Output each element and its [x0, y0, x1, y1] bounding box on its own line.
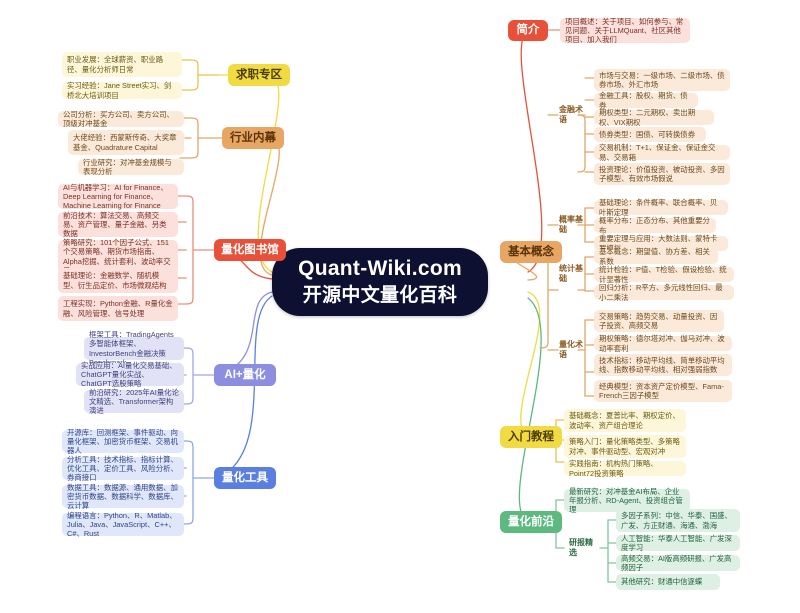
leaf-text: 技术指标：移动平均线、简单移动平均线、指数移动平均线、相对强弱指数	[599, 356, 727, 375]
leaf-text: 实习经验：Jane Street实习、剑桥北大培训项目	[67, 81, 177, 100]
leaf-text: AI与机器学习：AI for Finance、Deep Learning for…	[63, 183, 173, 211]
leaf-text: 基础理论：金融数学、随机模型、衍生品定价、市场微观结构	[63, 271, 173, 290]
leaf-text: 市场与交易：一级市场、二级市场、债券市场、外汇市场	[599, 71, 725, 90]
branch-basics[interactable]: 基本概念	[500, 241, 562, 263]
mindmap-canvas: Quant-Wiki.com 开源中文量化百科 求职专区 职业发展：全球薪资、职…	[0, 0, 800, 613]
leaf-text: 实践指南：机构热门策略、Point72投资策略	[569, 459, 681, 478]
leaf-bond-types[interactable]: 债券类型：国债、可转换债券	[594, 127, 706, 142]
leaf-text: 经典模型：资本资产定价模型、Fama-French三因子模型	[599, 382, 727, 401]
sub-finance-terms[interactable]: 金融术语	[556, 107, 586, 123]
leaf-ai-frameworks[interactable]: 框架工具：TradingAgents多智能体框架、InvestorBench金融…	[84, 337, 184, 360]
branch-industry[interactable]: 行业内幕	[222, 127, 284, 149]
sub-label: 量化术语	[559, 340, 583, 360]
leaf-financial-instruments[interactable]: 金融工具：股权、期货、债券	[594, 93, 698, 108]
leaf-artificial-intelligence[interactable]: 人工智能：华泰人工智能、广发深度学习	[616, 535, 740, 551]
leaf-text: 统计检验：P值、T检验、假设检验、统计显著性	[599, 265, 729, 284]
leaf-library-theory[interactable]: 基础理论：金融数学、随机模型、衍生品定价、市场微观结构	[58, 268, 178, 293]
leaf-tools-languages[interactable]: 编程语言：Python、R、Matlab、Julia、Java、JavaScri…	[62, 513, 184, 536]
leaf-library-frontier[interactable]: 前沿技术：算法交易、高频交易、资产管理、量子金融、另类数据	[58, 212, 178, 237]
leaf-tutorial-strategy[interactable]: 策略入门：量化策略类型、多策略对冲、事件驱动型、宏观对冲	[564, 435, 686, 458]
leaf-tools-data[interactable]: 数据工具：数据源、通用数据、加密货币数据、数据科学、数据库、云计算	[62, 485, 184, 508]
branch-tutorial[interactable]: 入门教程	[500, 426, 562, 448]
leaf-ai-practice[interactable]: 实战应用：AI量化交易基础、ChatGPT量化实战、ChatGPT选股策略	[76, 363, 184, 386]
leaf-tools-analysis[interactable]: 分析工具：技术指标、指标计算、优化工具、定价工具、风险分析、券商接口	[62, 457, 184, 480]
leaf-text: 交易机制：T+1、保证金、保证金交易、交易箱	[599, 143, 725, 162]
branch-ai[interactable]: AI+量化	[214, 364, 276, 386]
branch-intro[interactable]: 简介	[508, 20, 548, 41]
leaf-classic-models[interactable]: 经典模型：资本资产定价模型、Fama-French三因子模型	[594, 380, 732, 402]
sub-quant-terms[interactable]: 量化术语	[556, 342, 586, 358]
leaf-job-career[interactable]: 职业发展：全球薪资、职业路径、量化分析师日常	[62, 52, 182, 77]
leaf-job-internship[interactable]: 实习经验：Jane Street实习、剑桥北大培训项目	[62, 82, 182, 99]
branch-ai-label: AI+量化	[224, 368, 265, 382]
leaf-text: 基本概念：期望值、协方差、相关系数	[599, 247, 713, 266]
leaf-text: 大佬经验：西蒙斯传奇、大奖章基金、Quadrature Capital	[73, 133, 179, 152]
sub-label: 统计基础	[559, 264, 583, 284]
leaf-text: 公司分析：买方公司、卖方公司、顶级对冲基金	[63, 110, 179, 129]
branch-tools[interactable]: 量化工具	[214, 467, 276, 489]
leaf-text: 开源库：回测框架、事件驱动、向量化框架、加密货币框架、交易机器人	[67, 428, 179, 456]
leaf-text: 人工智能：华泰人工智能、广发深度学习	[621, 534, 735, 553]
leaf-stat-basics[interactable]: 基本概念：期望值、协方差、相关系数	[594, 249, 718, 264]
central-subtitle: 开源中文量化百科	[303, 284, 457, 308]
leaf-text: 回归分析：R平方、多元线性回归、最小二乘法	[599, 283, 729, 302]
leaf-text: 行业研究：对冲基金规模与表现分析	[83, 158, 179, 177]
leaf-text: 交易策略：趋势交易、动量投资、因子投资、高频交易	[599, 312, 719, 331]
leaf-other-research[interactable]: 其他研究：财通中信逐蝶	[616, 574, 720, 590]
leaf-text: 前沿技术：算法交易、高频交易、资产管理、量子金融、另类数据	[63, 211, 173, 239]
leaf-tutorial-practice[interactable]: 实践指南：机构热门策略、Point72投资策略	[564, 461, 686, 476]
sub-label: 研报精选	[569, 538, 597, 558]
leaf-trading-mechanism[interactable]: 交易机制：T+1、保证金、保证金交易、交易箱	[594, 145, 730, 160]
leaf-text: 实战应用：AI量化交易基础、ChatGPT量化实战、ChatGPT选股策略	[81, 361, 179, 389]
branch-job[interactable]: 求职专区	[228, 64, 290, 86]
branch-frontier[interactable]: 量化前沿	[500, 511, 562, 533]
leaf-text: 期权策略：德尔塔对冲、伽马对冲、波动率套利	[599, 334, 727, 353]
leaf-text: 期权类型：二元期权、卖出期权、VIX期权	[599, 108, 709, 127]
sub-statistics[interactable]: 统计基础	[556, 266, 586, 282]
leaf-market-trading[interactable]: 市场与交易：一级市场、二级市场、债券市场、外汇市场	[594, 69, 730, 91]
leaf-industry-legends[interactable]: 大佬经验：西蒙斯传奇、大奖章基金、Quadrature Capital	[68, 130, 184, 155]
leaf-prob-theory[interactable]: 基础理论：条件概率、联合概率、贝叶斯定理	[594, 200, 728, 215]
central-node[interactable]: Quant-Wiki.com 开源中文量化百科	[272, 248, 488, 316]
leaf-stat-tests[interactable]: 统计检验：P值、T检验、假设检验、统计显著性	[594, 267, 734, 282]
leaf-text: 债券类型：国债、可转换债券	[599, 130, 695, 139]
central-title: Quant-Wiki.com	[298, 256, 462, 282]
branch-tutorial-label: 入门教程	[508, 430, 554, 444]
leaf-multifactor[interactable]: 多因子系列：中信、华泰、国盛、广发、方正财通、海通、渤海	[616, 509, 740, 532]
leaf-text: 基础概念：夏普比率、期权定价、波动率、资产组合理论	[569, 411, 681, 430]
leaf-tools-opensource[interactable]: 开源库：回测框架、事件驱动、向量化框架、加密货币框架、交易机器人	[62, 430, 184, 453]
leaf-library-ai[interactable]: AI与机器学习：AI for Finance、Deep Learning for…	[58, 184, 178, 209]
leaf-ai-research[interactable]: 前沿研究：2025年AI量化论文精选、Transformer架构演进	[84, 390, 184, 413]
leaf-text: 基础理论：条件概率、联合概率、贝叶斯定理	[599, 198, 723, 217]
leaf-library-engineering[interactable]: 工程实现：Python金融、R量化金融、风险管理、信号处理	[58, 296, 178, 321]
leaf-investment-theory[interactable]: 投资理论：价值投资、被动投资、多因子模型、有效市场假说	[594, 163, 730, 185]
leaf-text: 策略入门：量化策略类型、多策略对冲、事件驱动型、宏观对冲	[569, 437, 681, 456]
leaf-text: 数据工具：数据源、通用数据、加密货币数据、数据科学、数据库、云计算	[67, 483, 179, 511]
leaf-text: 项目概述：关于项目、如何参与、常见问题、关于LLMQuant、社区其他项目、加入…	[565, 17, 685, 45]
sub-report-selection[interactable]: 研报精选	[566, 540, 600, 556]
branch-library-label: 量化图书馆	[221, 243, 279, 257]
leaf-text: 前沿研究：2025年AI量化论文精选、Transformer架构演进	[89, 388, 179, 416]
leaf-technical-indicators[interactable]: 技术指标：移动平均线、简单移动平均线、指数移动平均线、相对强弱指数	[594, 354, 732, 376]
leaf-text: 其他研究：财通中信逐蝶	[621, 577, 702, 586]
leaf-text: 编程语言：Python、R、Matlab、Julia、Java、JavaScri…	[67, 511, 179, 539]
branch-job-label: 求职专区	[236, 68, 282, 82]
leaf-text: 职业发展：全球薪资、职业路径、量化分析师日常	[67, 55, 177, 74]
leaf-hft[interactable]: 高频交易：AI版高频研报、广发高频因子	[616, 555, 740, 571]
leaf-text: 概率分布：正态分布、其他重要分布	[599, 216, 711, 235]
leaf-regression[interactable]: 回归分析：R平方、多元线性回归、最小二乘法	[594, 285, 734, 300]
branch-tools-label: 量化工具	[222, 471, 268, 485]
leaf-tutorial-basics[interactable]: 基础概念：夏普比率、期权定价、波动率、资产组合理论	[564, 409, 686, 432]
leaf-text: 分析工具：技术指标、指标计算、优化工具、定价工具、风险分析、券商接口	[67, 455, 179, 483]
leaf-text: 工程实现：Python金融、R量化金融、风险管理、信号处理	[63, 299, 173, 318]
branch-frontier-label: 量化前沿	[508, 515, 554, 529]
leaf-industry-company[interactable]: 公司分析：买方公司、卖方公司、顶级对冲基金	[58, 111, 184, 127]
branch-intro-label: 简介	[517, 23, 540, 37]
leaf-text: 高频交易：AI版高频研报、广发高频因子	[621, 554, 735, 573]
sub-label: 金融术语	[559, 105, 583, 125]
leaf-trading-strategies[interactable]: 交易策略：趋势交易、动量投资、因子投资、高频交易	[594, 310, 724, 332]
leaf-text: 投资理论：价值投资、被动投资、多因子模型、有效市场假说	[599, 165, 725, 184]
leaf-industry-research[interactable]: 行业研究：对冲基金规模与表现分析	[78, 159, 184, 175]
leaf-text: 多因子系列：中信、华泰、国盛、广发、方正财通、海通、渤海	[621, 511, 735, 530]
sub-probability[interactable]: 概率基础	[556, 217, 586, 233]
branch-industry-label: 行业内幕	[230, 131, 276, 145]
branch-basics-label: 基本概念	[508, 245, 554, 259]
leaf-prob-distribution[interactable]: 概率分布：正态分布、其他重要分布	[594, 218, 716, 233]
sub-label: 概率基础	[559, 215, 583, 235]
leaf-option-types[interactable]: 期权类型：二元期权、卖出期权、VIX期权	[594, 110, 714, 125]
leaf-text: 金融工具：股权、期货、债券	[599, 91, 693, 110]
branch-library[interactable]: 量化图书馆	[214, 239, 286, 261]
leaf-option-strategies[interactable]: 期权策略：德尔塔对冲、伽马对冲、波动率套利	[594, 336, 732, 351]
leaf-intro-overview[interactable]: 项目概述：关于项目、如何参与、常见问题、关于LLMQuant、社区其他项目、加入…	[560, 18, 690, 43]
